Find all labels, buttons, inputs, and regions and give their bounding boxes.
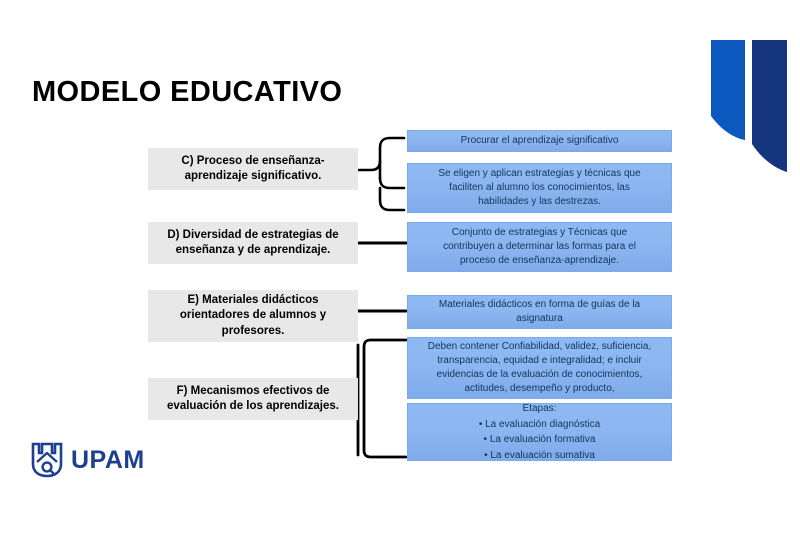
detail-line: Se eligen y aplican estrategias y técnic…: [415, 167, 664, 181]
detail-line: asignatura: [415, 312, 664, 326]
slide-canvas: MODELO EDUCATIVO C) Proceso de enseñanza…: [0, 0, 800, 533]
group-label-line: orientadores de alumnos y: [180, 309, 326, 321]
detail-line: transparencia, equidad e integralidad; e…: [415, 354, 664, 368]
detail-line: proceso de enseñanza-aprendizaje.: [415, 254, 664, 268]
detail-line: actitudes, desempeño y producto,: [415, 382, 664, 396]
detail-box-c1[interactable]: Procurar el aprendizaje significativo: [407, 130, 672, 152]
detail-line: Procurar el aprendizaje significativo: [415, 134, 664, 148]
detail-box-f2[interactable]: Etapas: • La evaluación diagnóstica • La…: [407, 403, 672, 461]
detail-line: evidencias de la evaluación de conocimie…: [415, 368, 664, 382]
upam-shield-icon: [30, 442, 64, 478]
ribbon-decoration: [705, 40, 800, 180]
connector-group-c: [359, 138, 404, 210]
group-label-line: evaluación de los aprendizajes.: [167, 400, 339, 412]
detail-line: Materiales didácticos en forma de guías …: [415, 298, 664, 312]
detail-line: habilidades y las destrezas.: [415, 195, 664, 209]
group-label-line: aprendizaje significativo.: [185, 170, 322, 182]
detail-line: Deben contener Confiabilidad, validez, s…: [415, 340, 664, 354]
detail-line: Conjunto de estrategias y Técnicas que: [415, 226, 664, 240]
group-label-line: E) Materiales didácticos: [187, 294, 318, 306]
group-label-line: profesores.: [222, 325, 285, 337]
detail-line: • La evaluación sumativa: [415, 448, 664, 464]
detail-box-c2[interactable]: Se eligen y aplican estrategias y técnic…: [407, 163, 672, 213]
group-label-line: D) Diversidad de estrategias de: [167, 229, 338, 241]
ribbon-dark-icon: [752, 40, 787, 172]
detail-box-d1[interactable]: Conjunto de estrategias y Técnicas que c…: [407, 222, 672, 272]
detail-line: contribuyen a determinar las formas para…: [415, 240, 664, 254]
detail-box-f1[interactable]: Deben contener Confiabilidad, validez, s…: [407, 337, 672, 399]
detail-line: • La evaluación diagnóstica: [415, 417, 664, 433]
connector-group-f: [358, 340, 406, 457]
group-label-line: enseñanza y de aprendizaje.: [176, 244, 331, 256]
group-label-line: C) Proceso de enseñanza-: [181, 155, 324, 167]
detail-line: faciliten al alumno los conocimientos, l…: [415, 181, 664, 195]
ribbon-light-icon: [711, 40, 745, 140]
group-label-f[interactable]: F) Mecanismos efectivos de evaluación de…: [148, 378, 358, 420]
logo-text: UPAM: [71, 446, 145, 475]
upam-logo[interactable]: UPAM: [30, 442, 145, 478]
group-label-line: F) Mecanismos efectivos de: [177, 385, 330, 397]
group-label-d[interactable]: D) Diversidad de estrategias de enseñanz…: [148, 222, 358, 264]
detail-box-e1[interactable]: Materiales didácticos en forma de guías …: [407, 295, 672, 329]
page-title: MODELO EDUCATIVO: [32, 76, 342, 109]
group-label-c[interactable]: C) Proceso de enseñanza- aprendizaje sig…: [148, 148, 358, 190]
group-label-e[interactable]: E) Materiales didácticos orientadores de…: [148, 290, 358, 342]
detail-line: • La evaluación formativa: [415, 432, 664, 448]
detail-line: Etapas:: [415, 401, 664, 417]
